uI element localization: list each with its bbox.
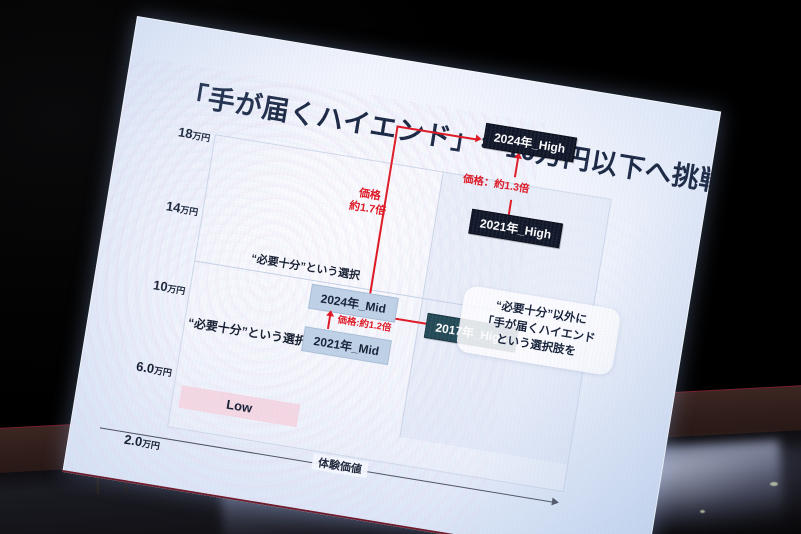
ratio-1-7-label: 価格 約1.7倍 — [348, 186, 389, 219]
ratio-1-2-arrowhead-icon — [326, 310, 335, 317]
floor-speck — [700, 510, 705, 513]
y-tick-10: 10万円 — [152, 277, 186, 297]
y-tick-18: 18万円 — [177, 124, 211, 144]
y-tick-14: 14万円 — [165, 198, 199, 218]
x-axis-arrowhead-icon — [551, 497, 559, 506]
floor-speck — [770, 482, 778, 486]
y-tick-6: 6.0万円 — [135, 359, 173, 380]
auditorium-scene: 「手が届くハイエンド」＝10万円以下へ挑戦 18万円 14万円 10万円 6.0… — [0, 0, 801, 534]
ratio-1-7-arrowhead-icon — [475, 134, 482, 143]
